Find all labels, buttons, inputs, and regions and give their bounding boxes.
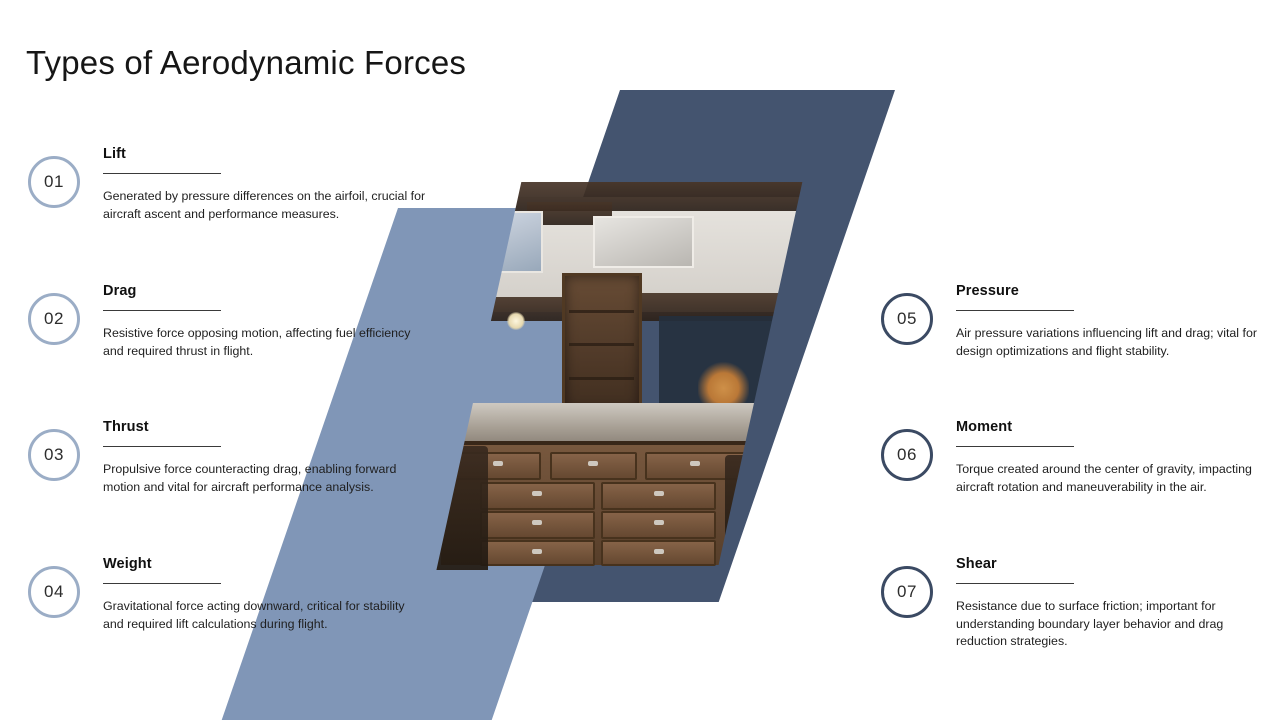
photo-hanging-lamp: [507, 312, 525, 330]
photo-image: [420, 170, 805, 645]
photo-ceiling-beam: [420, 182, 805, 211]
item-number-badge: 04: [28, 566, 80, 618]
item-divider: [103, 173, 221, 174]
center-photo: [420, 170, 805, 645]
item-divider: [103, 310, 221, 311]
item-description: Torque created around the center of grav…: [956, 461, 1268, 496]
item-number-badge: 01: [28, 156, 80, 208]
photo-poster-left: [480, 211, 542, 272]
item-number-badge: 07: [881, 566, 933, 618]
item-number-badge: 03: [28, 429, 80, 481]
item-divider: [956, 446, 1074, 447]
photo-marble-counter: [420, 403, 805, 446]
item-body: Weight Gravitational force acting downwa…: [103, 556, 428, 633]
item-number-badge: 06: [881, 429, 933, 481]
photo-chair-left: [426, 446, 488, 571]
item-description: Propulsive force counteracting drag, ena…: [103, 461, 428, 496]
force-item-thrust[interactable]: 03 Thrust Propulsive force counteracting…: [28, 419, 428, 496]
force-item-shear[interactable]: 07 Shear Resistance due to surface frict…: [881, 556, 1268, 651]
force-item-lift[interactable]: 01 Lift Generated by pressure difference…: [28, 146, 428, 223]
page-title: Types of Aerodynamic Forces: [26, 44, 466, 82]
item-description: Generated by pressure differences on the…: [103, 188, 428, 223]
item-divider: [956, 583, 1074, 584]
item-description: Resistance due to surface friction; impo…: [956, 598, 1268, 651]
item-title: Thrust: [103, 419, 428, 435]
item-divider: [103, 446, 221, 447]
item-title: Lift: [103, 146, 428, 162]
force-item-weight[interactable]: 04 Weight Gravitational force acting dow…: [28, 556, 428, 633]
item-description: Air pressure variations influencing lift…: [956, 325, 1268, 360]
item-body: Pressure Air pressure variations influen…: [956, 283, 1268, 360]
item-title: Drag: [103, 283, 428, 299]
force-item-drag[interactable]: 02 Drag Resistive force opposing motion,…: [28, 283, 428, 360]
photo-dresser: [441, 441, 760, 565]
item-number-badge: 02: [28, 293, 80, 345]
item-body: Lift Generated by pressure differences o…: [103, 146, 428, 223]
item-title: Pressure: [956, 283, 1268, 299]
item-divider: [956, 310, 1074, 311]
item-title: Moment: [956, 419, 1268, 435]
photo-poster-right: [593, 216, 694, 268]
force-item-moment[interactable]: 06 Moment Torque created around the cent…: [881, 419, 1268, 496]
item-description: Gravitational force acting downward, cri…: [103, 598, 428, 633]
photo-flowers: [698, 360, 749, 408]
force-item-pressure[interactable]: 05 Pressure Air pressure variations infl…: [881, 283, 1268, 360]
photo-glass-cabinet: [562, 273, 642, 413]
item-body: Moment Torque created around the center …: [956, 419, 1268, 496]
item-number-badge: 05: [881, 293, 933, 345]
item-body: Drag Resistive force opposing motion, af…: [103, 283, 428, 360]
item-divider: [103, 583, 221, 584]
item-body: Thrust Propulsive force counteracting dr…: [103, 419, 428, 496]
item-description: Resistive force opposing motion, affecti…: [103, 325, 428, 360]
item-title: Weight: [103, 556, 428, 572]
item-body: Shear Resistance due to surface friction…: [956, 556, 1268, 651]
item-title: Shear: [956, 556, 1268, 572]
slide-root: { "slide": { "title": "Types of Aerodyna…: [0, 0, 1280, 720]
photo-chair-right: [725, 455, 783, 560]
